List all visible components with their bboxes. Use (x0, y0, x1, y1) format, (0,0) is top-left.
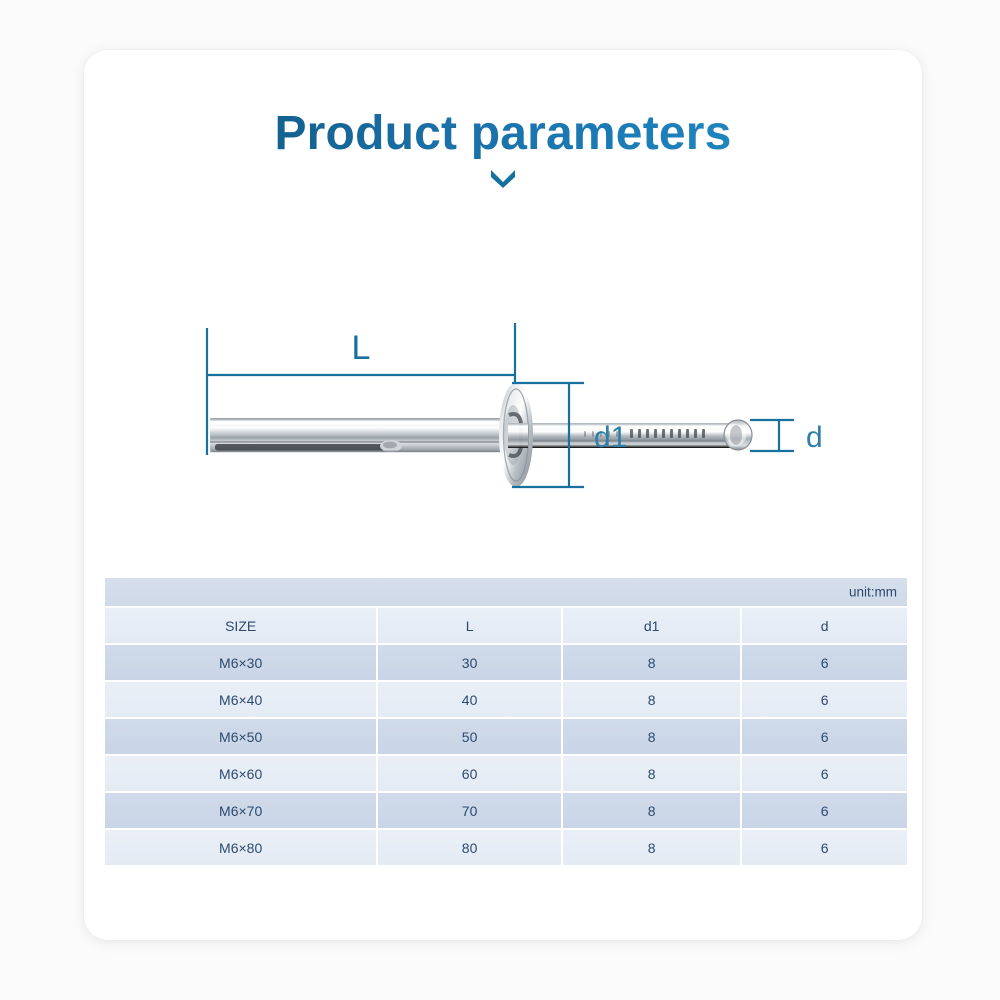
cell-l: 40 (378, 682, 561, 717)
cell-d1: 8 (563, 719, 741, 754)
cell-d1: 8 (563, 645, 741, 680)
cell-d: 6 (742, 645, 907, 680)
cell-l: 70 (378, 793, 561, 828)
table-row: M6×80 80 8 6 (105, 830, 907, 865)
page-title: Product parameters (274, 108, 731, 160)
anchor-pin-shaft (520, 423, 738, 448)
anchor-flange-washer (499, 383, 533, 487)
cell-d1: 8 (563, 756, 741, 791)
table-row: M6×70 70 8 6 (105, 793, 907, 828)
cell-d1: 8 (563, 682, 741, 717)
cell-l: 60 (378, 756, 561, 791)
cell-size: M6×30 (105, 645, 376, 680)
column-header-size: SIZE (105, 608, 376, 643)
cell-size: M6×40 (105, 682, 376, 717)
cell-d: 6 (742, 756, 907, 791)
table-row: M6×30 30 8 6 (105, 645, 907, 680)
dimension-label-length: L (352, 329, 371, 367)
cell-d1: 8 (563, 793, 741, 828)
table-row: M6×40 40 8 6 (105, 682, 907, 717)
content-card: Product parameters (84, 50, 922, 940)
column-header-d1: d1 (563, 608, 741, 643)
cell-l: 50 (378, 719, 561, 754)
specification-table: unit:mm SIZE L d1 d M6×30 30 8 6 M6×40 4… (105, 578, 907, 865)
cell-size: M6×70 (105, 793, 376, 828)
page-header: Product parameters (84, 108, 922, 188)
anchor-technical-drawing: L (84, 295, 922, 545)
anchor-pin-head (724, 420, 752, 450)
dimension-label-flange-diameter: d1 (594, 421, 627, 454)
cell-size: M6×50 (105, 719, 376, 754)
table-header-row: SIZE L d1 d (105, 608, 907, 643)
dimension-pin-diameter (750, 420, 794, 451)
cell-d: 6 (742, 793, 907, 828)
cell-d: 6 (742, 682, 907, 717)
cell-size: M6×60 (105, 756, 376, 791)
cell-size: M6×80 (105, 830, 376, 865)
dimension-label-pin-diameter: d (806, 421, 823, 454)
table-row: M6×50 50 8 6 (105, 719, 907, 754)
product-parameters-page: Product parameters (0, 0, 1000, 1000)
product-diagram: L (84, 295, 922, 545)
table-row: M6×60 60 8 6 (105, 756, 907, 791)
cell-l: 80 (378, 830, 561, 865)
cell-d: 6 (742, 719, 907, 754)
cell-d: 6 (742, 830, 907, 865)
anchor-sleeve (210, 418, 522, 452)
chevron-down-icon (488, 166, 518, 188)
unit-note: unit:mm (849, 585, 897, 600)
unit-band: unit:mm (105, 578, 907, 606)
cell-d1: 8 (563, 830, 741, 865)
column-header-d: d (742, 608, 907, 643)
cell-l: 30 (378, 645, 561, 680)
column-header-l: L (378, 608, 561, 643)
